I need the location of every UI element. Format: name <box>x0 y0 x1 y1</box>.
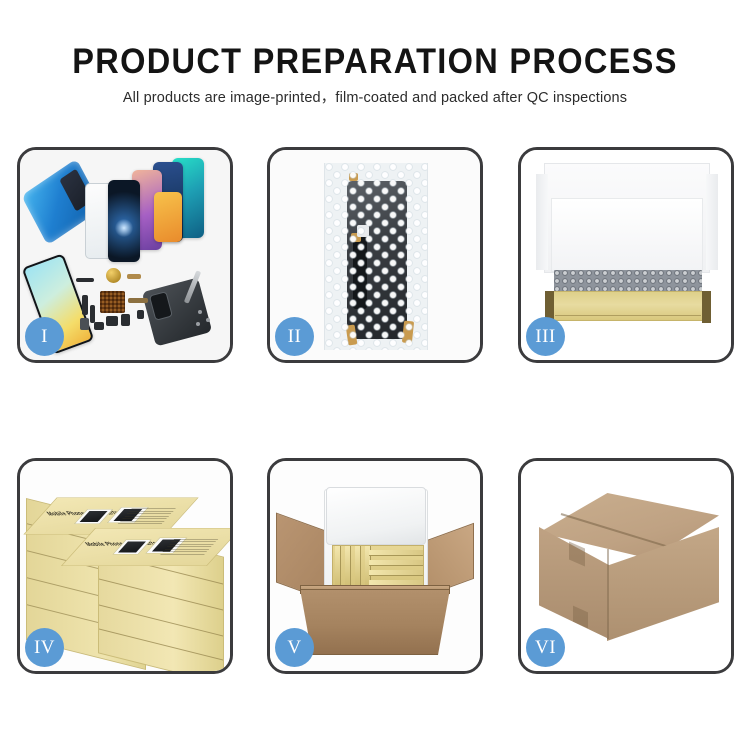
flex-cable-part <box>128 298 148 303</box>
phone-black-front <box>108 180 140 262</box>
flex-cable-part <box>90 305 95 323</box>
flex-cable-part <box>82 295 88 315</box>
product-preparation-infographic: PRODUCT PREPARATION PROCESS All products… <box>0 0 750 750</box>
flex-cable-part <box>137 310 144 319</box>
retail-box-edge <box>369 570 423 576</box>
page-subtitle: All products are image-printed，film-coat… <box>0 88 750 108</box>
bubble-texture-overlay <box>325 163 427 350</box>
page-title: PRODUCT PREPARATION PROCESS <box>26 42 724 82</box>
flex-cable-part <box>121 314 130 326</box>
kraft-box-tray <box>545 291 711 321</box>
retail-box-edge <box>345 546 351 588</box>
process-step-panel-3: III <box>518 147 734 363</box>
box-seam <box>99 579 223 611</box>
chip-grid-part <box>100 291 125 313</box>
process-step-panel-6: VI <box>518 458 734 674</box>
process-step-panel-1: I <box>17 147 233 363</box>
carton-front-panel <box>300 589 450 655</box>
retail-box-edge <box>335 546 341 588</box>
screw-part <box>196 322 200 326</box>
foam-box-lid <box>326 487 426 545</box>
retail-box-edge <box>369 560 423 566</box>
retail-box-edge <box>355 546 361 588</box>
phone-orange <box>154 192 182 242</box>
flex-cable-part <box>80 318 89 330</box>
flex-cable-part <box>106 316 118 326</box>
carton-vertical-edge <box>607 549 609 639</box>
bubble-wrap-sleeve <box>324 163 428 350</box>
flex-cable-part <box>127 274 141 279</box>
box-seam <box>99 629 223 661</box>
step-badge-2: II <box>275 317 314 356</box>
step-badge-5: V <box>275 628 314 667</box>
vibration-motor-part <box>106 268 121 283</box>
screw-part <box>206 318 210 322</box>
packed-retail-boxes <box>332 545 424 589</box>
flex-cable-part <box>94 322 104 330</box>
foam-padding-sheet <box>551 198 703 272</box>
process-step-panel-4: Mobile Phone Spare Parts Mobile Phone Sp… <box>17 458 233 674</box>
process-step-panel-5: V <box>267 458 483 674</box>
box-corner-right <box>702 291 711 323</box>
step-badge-4: IV <box>25 628 64 667</box>
flex-cable-part <box>76 278 94 282</box>
step-badge-1: I <box>25 317 64 356</box>
process-step-panel-2: II <box>267 147 483 363</box>
box-seam <box>99 605 223 637</box>
screw-part <box>198 310 202 314</box>
process-steps-grid: I II <box>17 147 734 674</box>
step-badge-3: III <box>526 317 565 356</box>
step-badge-6: VI <box>526 628 565 667</box>
retail-box-edge <box>369 550 423 556</box>
